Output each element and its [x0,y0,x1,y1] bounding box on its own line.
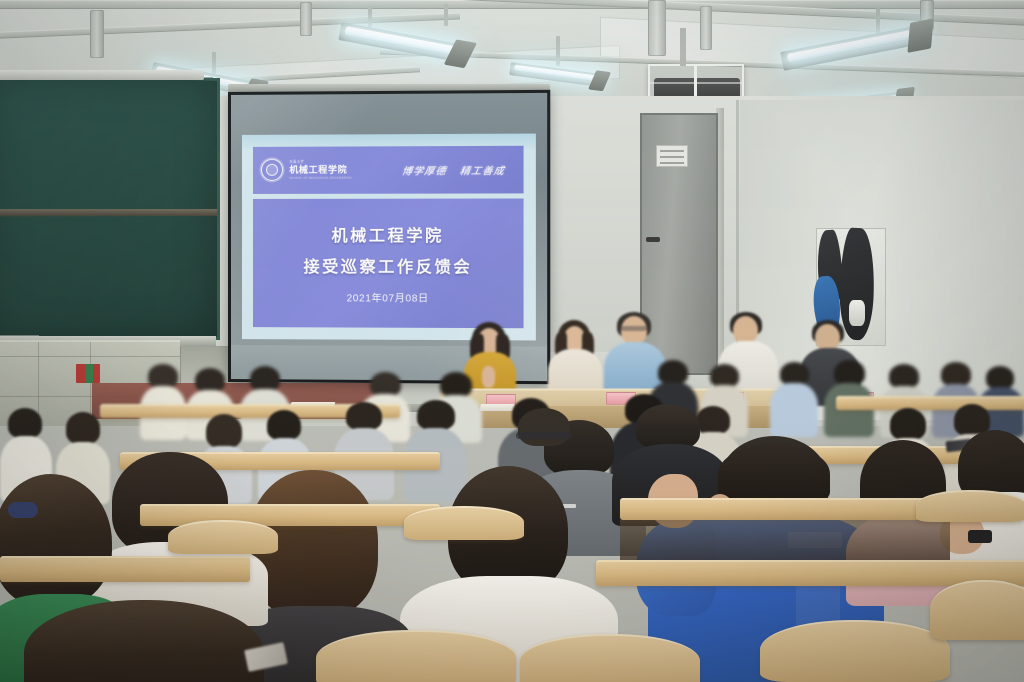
audience-desk [620,498,950,520]
seat-back [404,506,524,540]
seat-back [760,620,950,682]
seat-back [930,580,1024,640]
front-row-head [24,600,264,682]
door-handle[interactable] [646,237,660,242]
slide-title-line-1: 机械工程学院 [331,222,443,246]
seat-back [316,630,516,682]
chalk-rail [0,209,217,216]
slide-institution-name: 机械工程学院 [289,165,352,174]
slide-title-line-2: 接受巡察工作反馈会 [304,253,473,277]
slide-institution-english: SCHOOL OF MECHANICAL ENGINEERING [289,176,352,179]
lecture-hall-photo: 东南大学 机械工程学院 SCHOOL OF MECHANICAL ENGINEE… [0,0,1024,682]
seat-back [520,634,700,682]
slide-body-band: 机械工程学院 接受巡察工作反馈会 2021年07月08日 [253,198,524,328]
audience-desk-front [0,556,250,582]
desk-underside [620,520,950,560]
slide-header-band: 东南大学 机械工程学院 SCHOOL OF MECHANICAL ENGINEE… [253,146,524,194]
presentation-slide: 东南大学 机械工程学院 SCHOOL OF MECHANICAL ENGINEE… [253,146,524,328]
motto-phrase-1: 博学厚德 [401,162,448,177]
seat-back [168,520,278,554]
projector-ceiling-pole [680,28,686,66]
slide-motto-calligraphy: 博学厚德 精工善成 [402,162,515,178]
wristwatch [968,530,992,543]
seat-back [916,490,1024,522]
slide-date: 2021年07月08日 [347,289,429,304]
audience-desk [140,504,440,526]
door-notice-sign [656,145,688,167]
projected-slide-image: 东南大学 机械工程学院 SCHOOL OF MECHANICAL ENGINEE… [242,133,536,340]
university-seal-emblem [261,159,283,181]
blackboard-top-light [0,70,204,80]
green-chalkboard [0,69,220,348]
motto-phrase-2: 精工善成 [459,162,506,177]
